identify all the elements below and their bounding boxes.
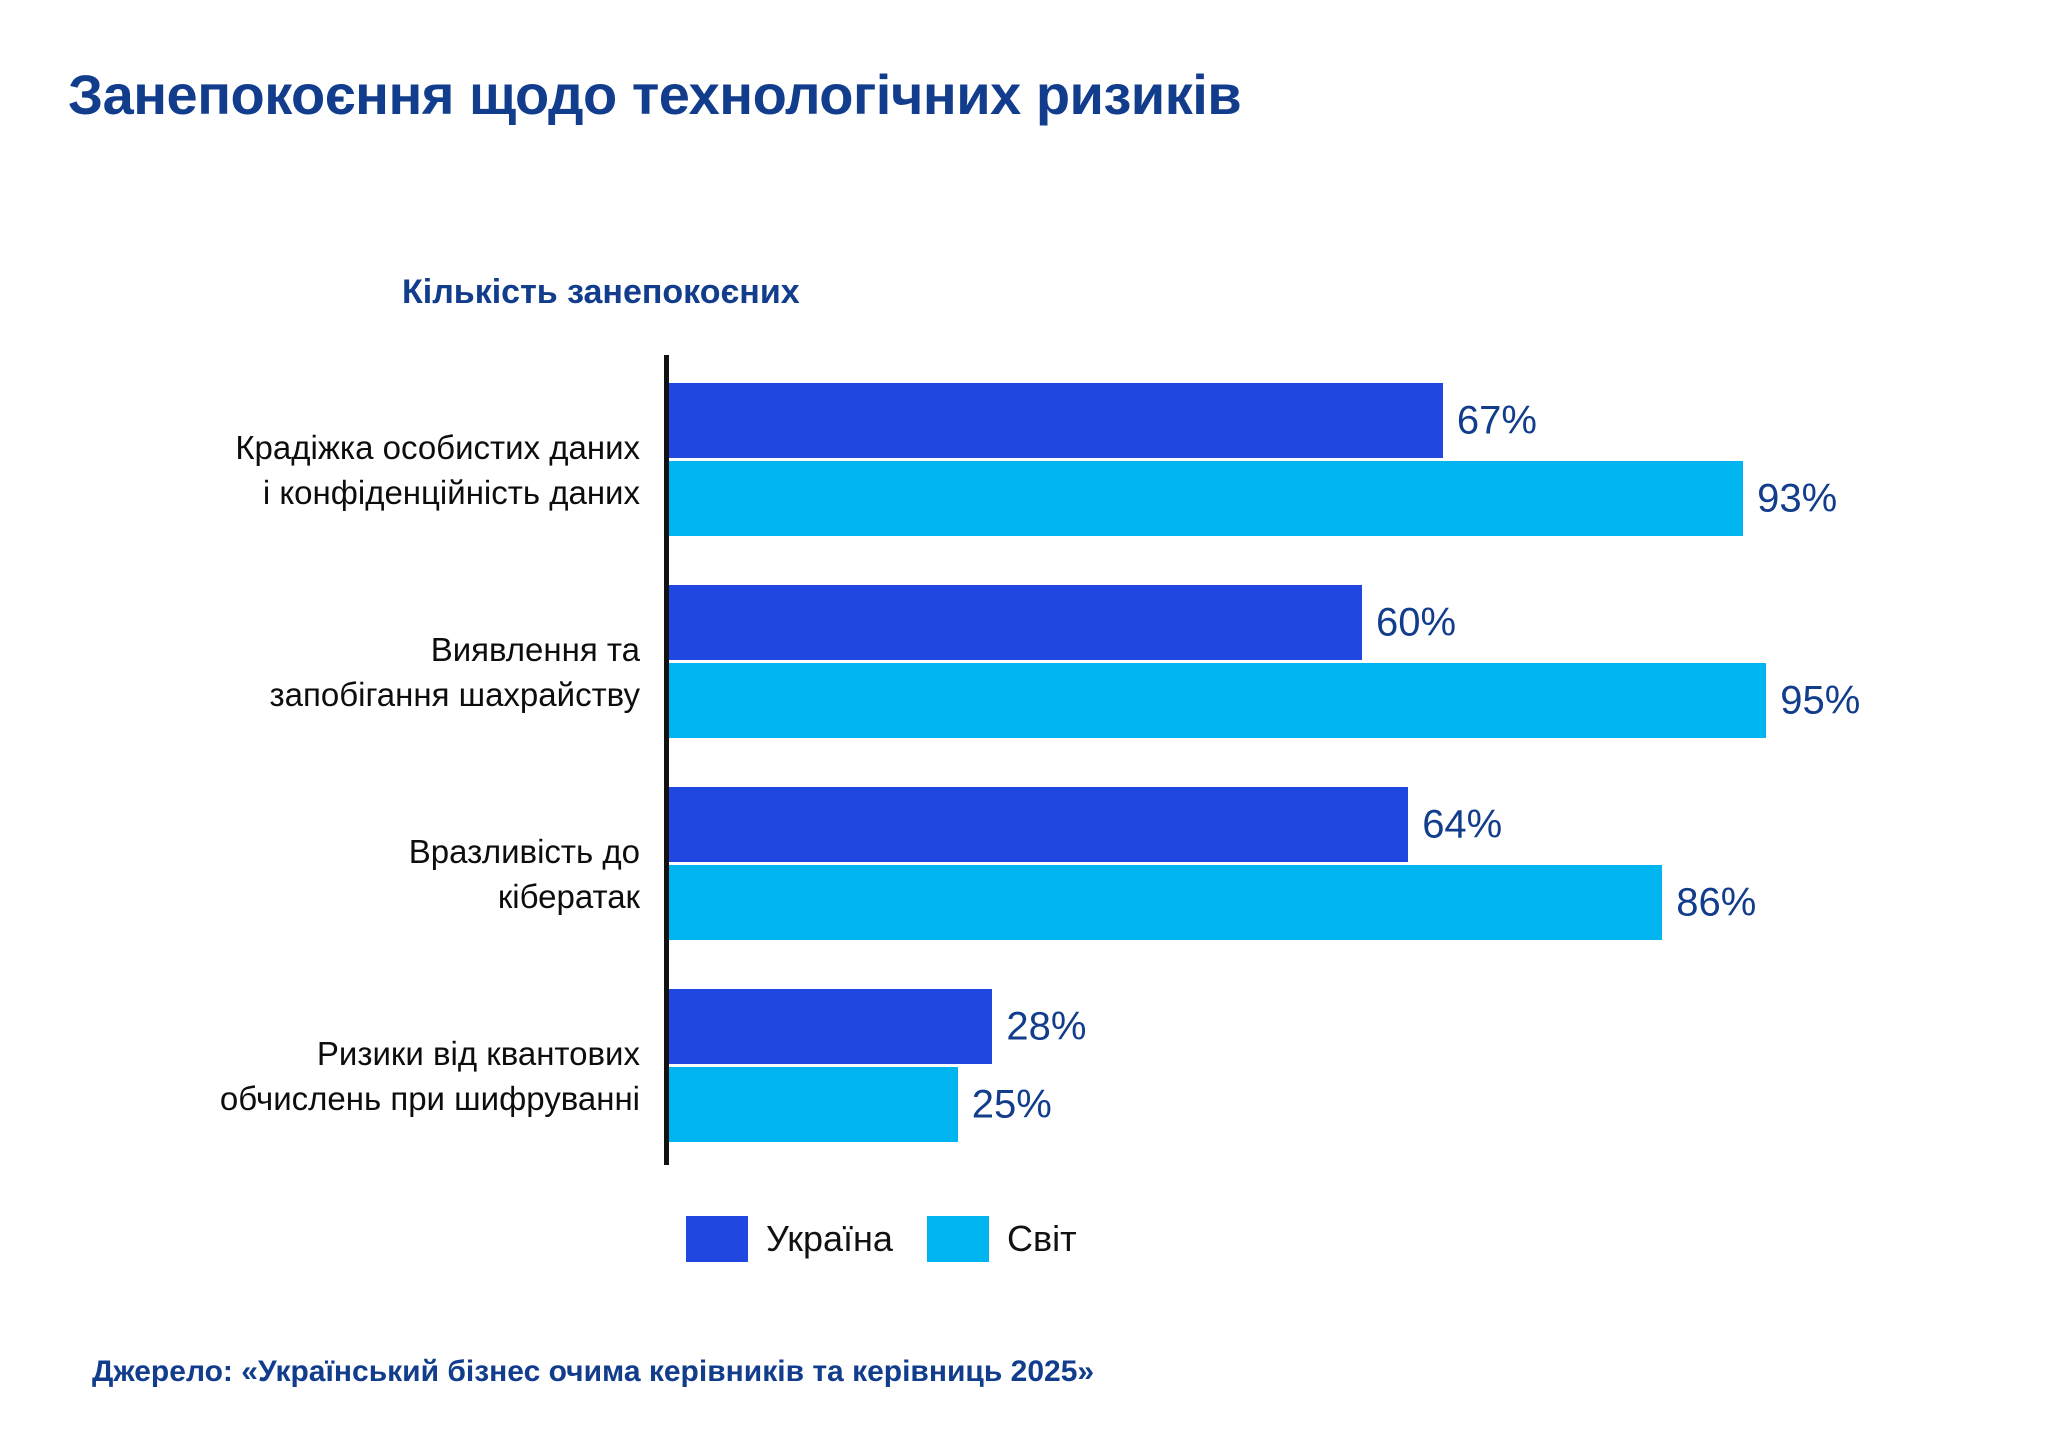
chart-page: Занепокоєння щодо технологічних ризиків … (0, 0, 2048, 1443)
bar-value-ukraine: 67% (1457, 398, 1537, 443)
bar-world[interactable] (669, 865, 1662, 940)
legend-item-world[interactable]: Світ (927, 1216, 1077, 1262)
bar-world[interactable] (669, 663, 1766, 738)
bar-value-ukraine: 28% (1006, 1004, 1086, 1049)
bar-group: Виявлення та запобігання шахрайству 60% … (0, 577, 2048, 767)
category-label-line: Вразливість до (60, 829, 640, 874)
bar-ukraine[interactable] (669, 585, 1362, 660)
bar-value-ukraine: 64% (1422, 802, 1502, 847)
legend-swatch-world-icon (927, 1216, 989, 1262)
category-label-line: кібератак (60, 874, 640, 919)
category-label-line: і конфіденційність даних (60, 470, 640, 515)
legend-swatch-ukraine-icon (686, 1216, 748, 1262)
bar-group: Вразливість до кібератак 64% 86% (0, 779, 2048, 969)
category-label: Виявлення та запобігання шахрайству (60, 627, 640, 717)
bar-value-world: 95% (1780, 678, 1860, 723)
category-label: Вразливість до кібератак (60, 829, 640, 919)
category-label-line: Ризики від квантових (60, 1031, 640, 1076)
plot-area: Крадіжка особистих даних і конфіденційні… (0, 355, 2048, 1165)
legend-label-ukraine: Україна (766, 1218, 893, 1260)
category-label-line: запобігання шахрайству (60, 672, 640, 717)
category-label-line: Крадіжка особистих даних (60, 425, 640, 470)
bar-value-ukraine: 60% (1376, 600, 1456, 645)
bar-world[interactable] (669, 1067, 958, 1142)
category-label-line: обчислень при шифруванні (60, 1076, 640, 1121)
page-title: Занепокоєння щодо технологічних ризиків (68, 62, 1241, 127)
legend-label-world: Світ (1007, 1218, 1077, 1260)
bar-world[interactable] (669, 461, 1743, 536)
category-label: Крадіжка особистих даних і конфіденційні… (60, 425, 640, 515)
chart-subtitle: Кількість занепокоєних (402, 273, 800, 312)
legend-item-ukraine[interactable]: Україна (686, 1216, 893, 1262)
bar-group: Крадіжка особистих даних і конфіденційні… (0, 375, 2048, 565)
bar-value-world: 86% (1676, 880, 1756, 925)
bar-value-world: 93% (1757, 476, 1837, 521)
bar-ukraine[interactable] (669, 989, 992, 1064)
bar-groups: Крадіжка особистих даних і конфіденційні… (0, 355, 2048, 1165)
source-note: Джерело: «Український бізнес очима керів… (92, 1355, 1094, 1389)
category-label-line: Виявлення та (60, 627, 640, 672)
chart-legend: Україна Світ (686, 1216, 1077, 1262)
bar-group: Ризики від квантових обчислень при шифру… (0, 981, 2048, 1171)
bar-ukraine[interactable] (669, 787, 1408, 862)
bar-value-world: 25% (972, 1082, 1052, 1127)
category-label: Ризики від квантових обчислень при шифру… (60, 1031, 640, 1121)
bar-ukraine[interactable] (669, 383, 1443, 458)
